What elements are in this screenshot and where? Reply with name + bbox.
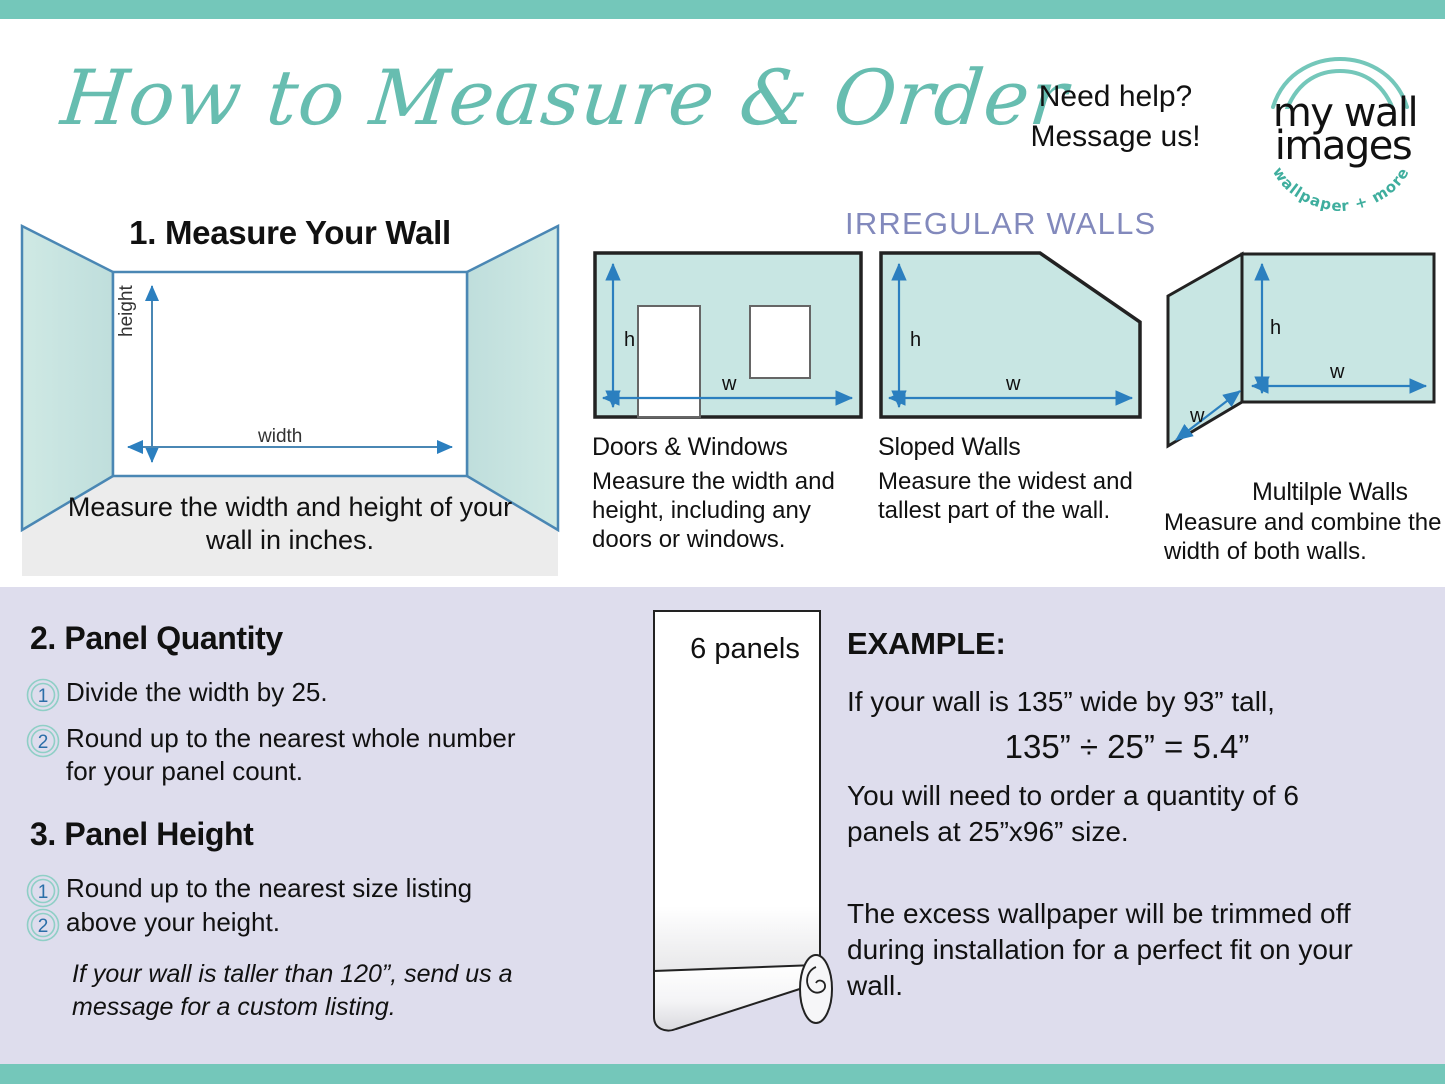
header: How to Measure & Order Need help? Messag… [0,19,1445,204]
sloped-wall-diagram: h w [878,250,1146,420]
top-accent-bar [0,0,1445,19]
step2-heading: 2. Panel Quantity [30,620,283,657]
svg-text:2: 2 [38,732,49,753]
example-heading: EXAMPLE: [847,626,1006,662]
need-help-text: Need help? Message us! [1018,77,1213,157]
doors-windows-diagram: h w [592,250,864,420]
step2-bullet-2: 2 Round up to the nearest whole number f… [26,722,526,788]
circled-number-icon: 2 [26,908,60,942]
svg-text:wallpaper + more: wallpaper + more [1269,164,1413,211]
section1-caption: Measure the width and height of your wal… [60,491,520,557]
svg-text:w: w [1189,405,1205,427]
need-help-line2: Message us! [1018,117,1213,157]
example-line1: If your wall is 135” wide by 93” tall, [847,684,1417,720]
irregular-item-sloped-walls: h w Sloped Walls Measure the widest and … [878,250,1146,526]
section1-title: 1. Measure Your Wall [0,214,580,252]
svg-text:h: h [624,329,635,351]
svg-text:w: w [1005,373,1021,395]
need-help-line1: Need help? [1018,77,1213,117]
step3-bullet-2: 2 above your height. [26,906,556,942]
step3-bullet-2-text: above your height. [66,906,280,939]
svg-text:h: h [910,329,921,351]
circled-number-icon: 2 [26,724,60,758]
multiple-walls-diagram: h w w [1164,250,1442,465]
irregular-desc-2: Measure and combine the width of both wa… [1164,509,1442,567]
step2-bullet-1-text: Divide the width by 25. [66,676,328,709]
measure-your-wall-section: 1. Measure Your Wall height width Measur… [0,204,580,576]
circled-number-icon: 1 [26,874,60,908]
step3-heading: 3. Panel Height [30,816,253,853]
svg-text:h: h [1270,317,1281,339]
svg-text:w: w [721,373,737,395]
irregular-item-multiple-walls: h w w Multilple Walls Measure and combin… [1164,250,1442,567]
circled-number-icon: 1 [26,678,60,712]
svg-text:w: w [1329,361,1345,383]
example-line2: You will need to order a quantity of 6 p… [847,778,1387,850]
logo-tagline: wallpaper + more [1263,153,1419,211]
example-equation: 135” ÷ 25” = 5.4” [847,728,1407,766]
irregular-title-0: Doors & Windows [592,433,864,462]
step3-bullet-1-text: Round up to the nearest size listing [66,872,472,905]
page-title: How to Measure & Order [57,53,1072,142]
svg-text:1: 1 [38,686,49,707]
width-label: width [258,426,302,448]
example-line3: The excess wallpaper will be trimmed off… [847,896,1387,1003]
irregular-walls-heading: IRREGULAR WALLS [845,206,1156,242]
irregular-desc-0: Measure the width and height, including … [592,468,864,554]
step3-bullet-1: 1 Round up to the nearest size listing [26,872,556,908]
brand-logo: my wall images wallpaper + more [1255,57,1425,207]
height-label: height [116,285,138,337]
step2-bullet-1: 1 Divide the width by 25. [26,676,546,712]
step3-note: If your wall is taller than 120”, send u… [72,958,552,1023]
irregular-desc-1: Measure the widest and tallest part of t… [878,468,1146,526]
wallpaper-roll-illustration [640,607,850,1037]
irregular-item-doors-windows: h w Doors & Windows Measure the width an… [592,250,864,554]
irregular-title-1: Sloped Walls [878,433,1146,462]
svg-text:1: 1 [38,882,49,903]
bottom-accent-bar [0,1064,1445,1084]
roll-panel-count-label: 6 panels [650,633,840,666]
svg-text:2: 2 [38,916,49,937]
step2-bullet-2-text: Round up to the nearest whole number for… [66,722,526,788]
irregular-title-2: Multilple Walls [1252,478,1442,507]
